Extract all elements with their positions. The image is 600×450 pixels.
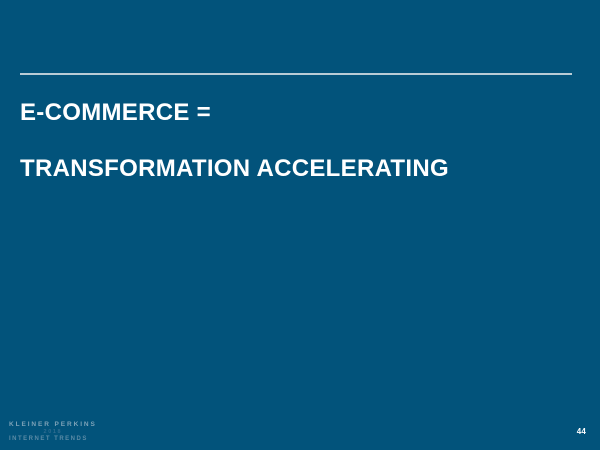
headline-line-2: TRANSFORMATION ACCELERATING [20, 156, 580, 182]
brand-year: 2018 [9, 429, 97, 436]
presentation-slide: E-COMMERCE = TRANSFORMATION ACCELERATING… [0, 0, 600, 450]
page-number: 44 [577, 427, 586, 436]
headline-line-1: E-COMMERCE = [20, 100, 580, 126]
footer-branding: KLEINER PERKINS 2018 INTERNET TRENDS [9, 421, 97, 444]
title-divider-rule [20, 73, 572, 75]
headline-block: E-COMMERCE = TRANSFORMATION ACCELERATING [20, 100, 580, 183]
brand-series: INTERNET TRENDS [9, 436, 97, 444]
brand-name: KLEINER PERKINS [9, 421, 97, 429]
